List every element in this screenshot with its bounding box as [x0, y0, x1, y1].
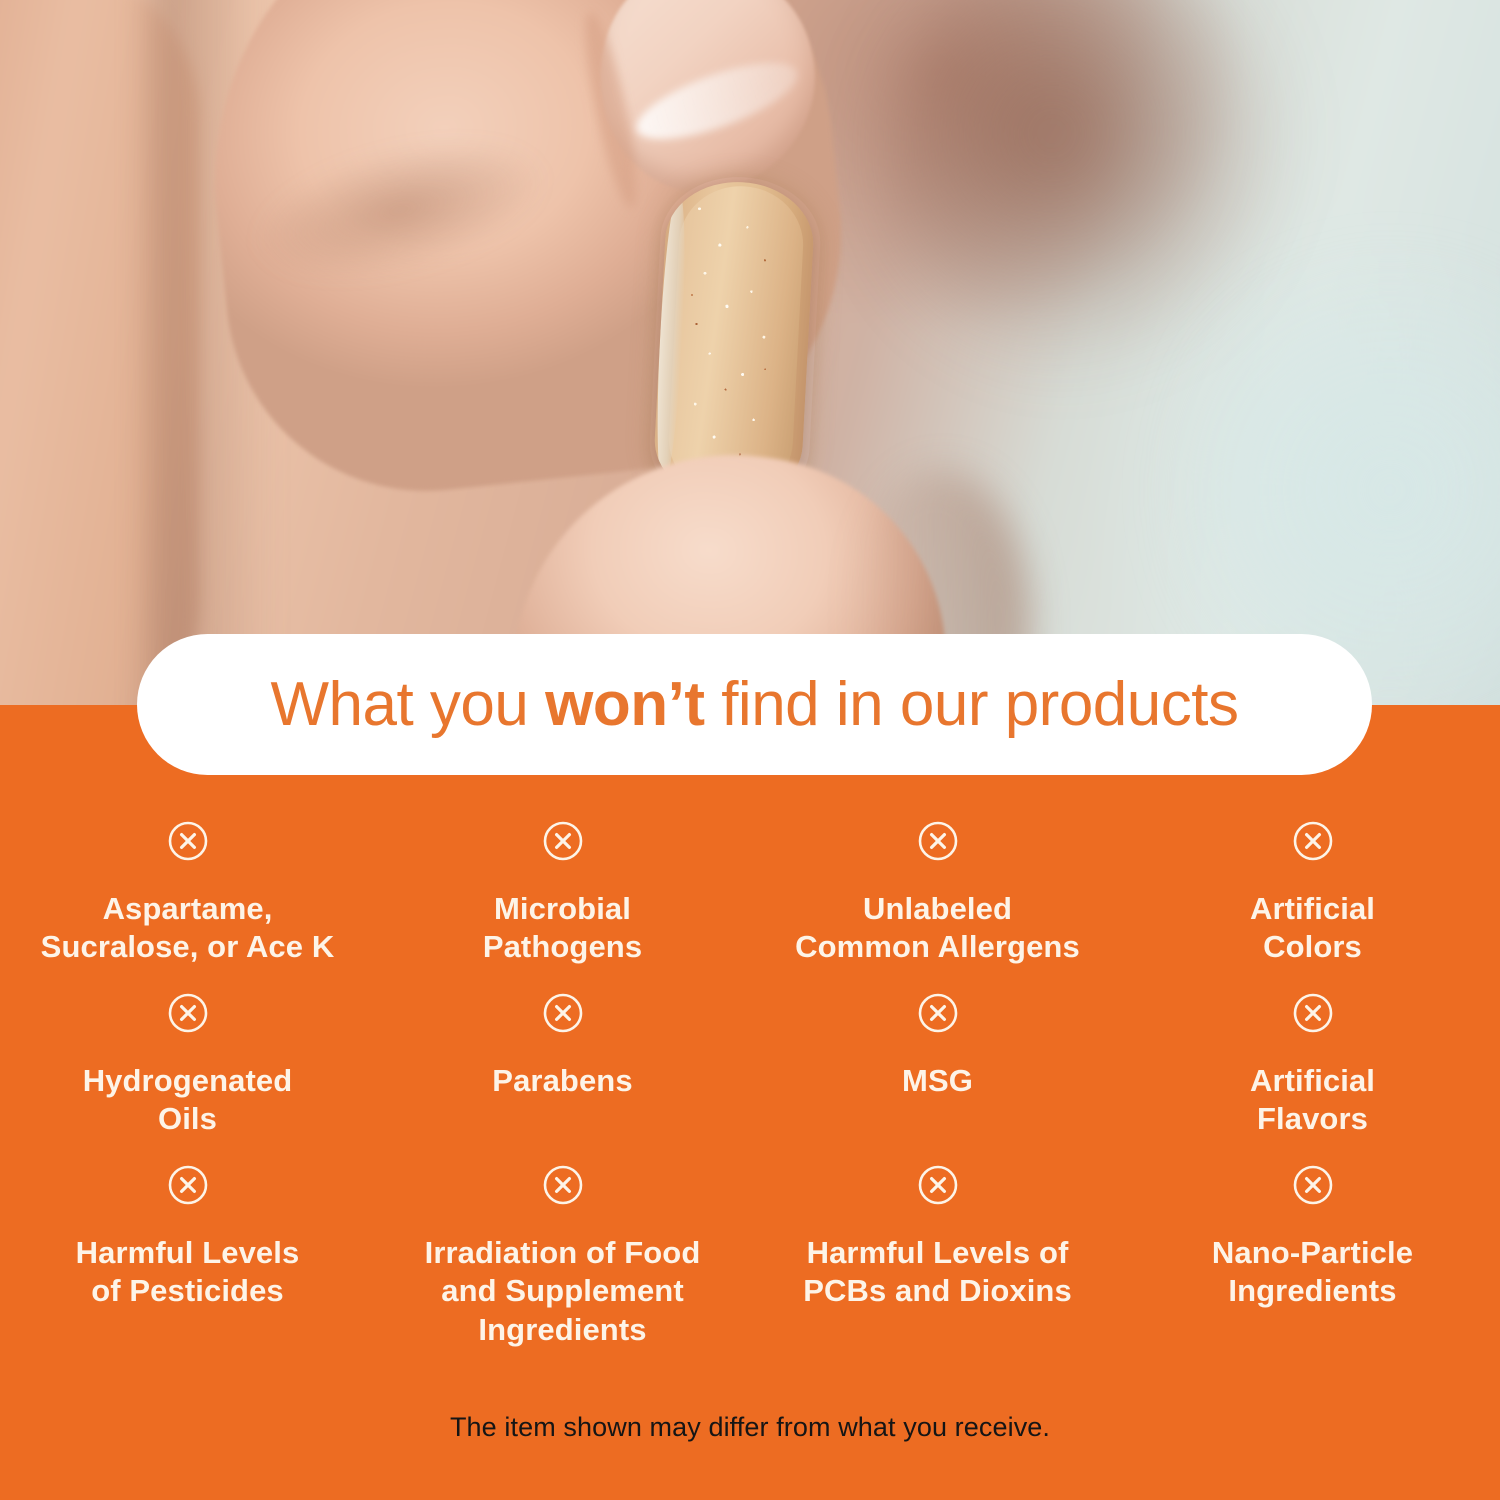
grid-cell-label: Parabens: [492, 1062, 632, 1100]
grid-cell-label: Nano-Particle Ingredients: [1212, 1234, 1413, 1311]
grid-cell: Parabens: [375, 992, 750, 1164]
title-banner: What you won’t find in our products: [137, 634, 1372, 775]
disclaimer-text: The item shown may differ from what you …: [0, 1412, 1500, 1443]
grid-cell: Unlabeled Common Allergens: [750, 820, 1125, 992]
product-claims-poster: What you won’t find in our products Aspa…: [0, 0, 1500, 1500]
circle-x-icon: [167, 1164, 209, 1206]
circle-x-icon: [542, 820, 584, 862]
circle-x-icon: [1292, 992, 1334, 1034]
grid-cell: Harmful Levels of PCBs and Dioxins: [750, 1164, 1125, 1354]
grid-cell-label: Unlabeled Common Allergens: [795, 890, 1080, 967]
grid-cell: Irradiation of Food and Supplement Ingre…: [375, 1164, 750, 1354]
circle-x-icon: [917, 1164, 959, 1206]
grid-cell-label: Artificial Flavors: [1250, 1062, 1375, 1139]
page-title-part-1: What you: [271, 670, 546, 739]
grid-cell-label: Aspartame, Sucralose, or Ace K: [41, 890, 335, 967]
excluded-ingredients-grid: Aspartame, Sucralose, or Ace K Microbial…: [0, 820, 1500, 1354]
circle-x-icon: [917, 992, 959, 1034]
grid-cell: Microbial Pathogens: [375, 820, 750, 992]
page-title: What you won’t find in our products: [271, 674, 1239, 736]
grid-cell: Hydrogenated Oils: [0, 992, 375, 1164]
page-title-part-2: find in our products: [704, 670, 1238, 739]
grid-cell-label: Microbial Pathogens: [483, 890, 642, 967]
grid-cell: Nano-Particle Ingredients: [1125, 1164, 1500, 1354]
grid-cell-label: Harmful Levels of PCBs and Dioxins: [803, 1234, 1072, 1311]
grid-cell-label: Irradiation of Food and Supplement Ingre…: [425, 1234, 701, 1349]
grid-cell: MSG: [750, 992, 1125, 1164]
circle-x-icon: [1292, 1164, 1334, 1206]
grid-cell: Artificial Flavors: [1125, 992, 1500, 1164]
circle-x-icon: [542, 992, 584, 1034]
circle-x-icon: [542, 1164, 584, 1206]
page-title-emphasis: won’t: [545, 670, 704, 739]
grid-cell-label: Hydrogenated Oils: [83, 1062, 293, 1139]
circle-x-icon: [1292, 820, 1334, 862]
circle-x-icon: [167, 820, 209, 862]
grid-cell: Aspartame, Sucralose, or Ace K: [0, 820, 375, 992]
grid-cell-label: MSG: [902, 1062, 973, 1100]
circle-x-icon: [917, 820, 959, 862]
grid-cell: Harmful Levels of Pesticides: [0, 1164, 375, 1354]
grid-cell-label: Harmful Levels of Pesticides: [76, 1234, 300, 1311]
product-photo: [0, 0, 1500, 712]
circle-x-icon: [167, 992, 209, 1034]
grid-cell-label: Artificial Colors: [1250, 890, 1375, 967]
grid-cell: Artificial Colors: [1125, 820, 1500, 992]
